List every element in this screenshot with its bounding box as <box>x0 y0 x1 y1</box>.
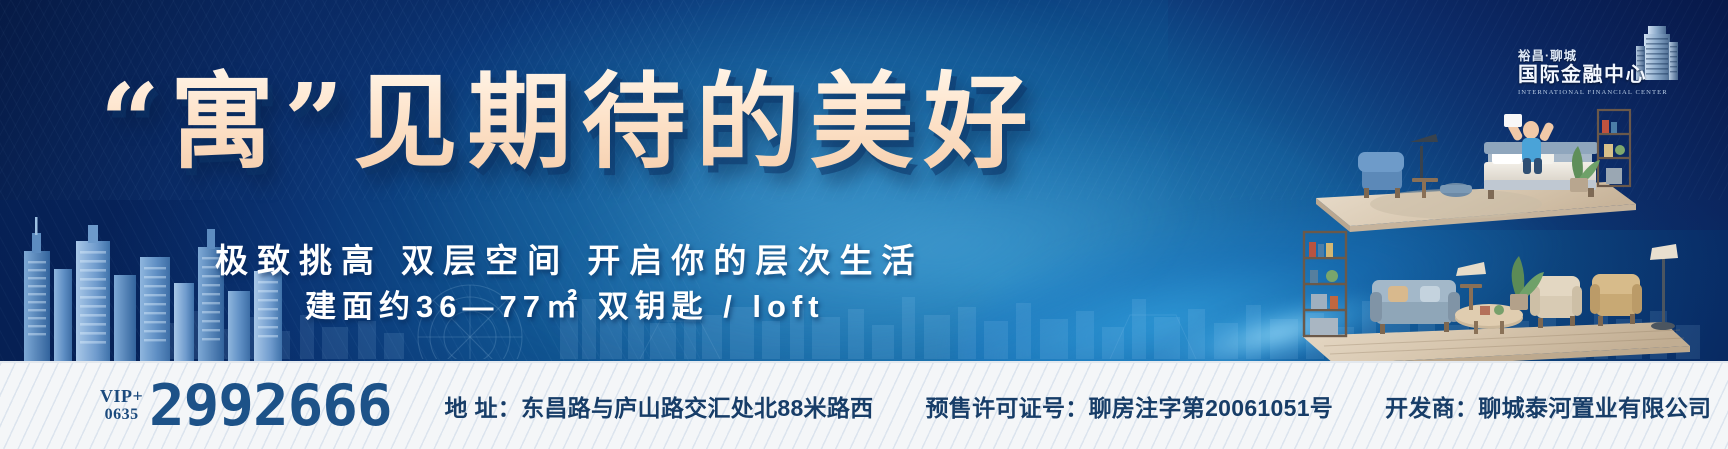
page-title: “寓”见期待的美好 <box>100 66 1038 178</box>
subtitle-line-2: 建面约36—77㎡ 双钥匙 / loft <box>305 281 825 326</box>
address-text: 地 址：东昌路与庐山路交汇处北88米路西 <box>418 389 899 423</box>
logo-line-3: INTERNATIONAL FINANCIAL CENTER <box>1518 89 1668 96</box>
living-room-interior-photo <box>1284 218 1694 373</box>
subtitle-line-1: 极致挑高 双层空间 开启你的层次生活 <box>215 234 923 282</box>
project-logo: 裕昌·聊城 国际金融中心 INTERNATIONAL FINANCIAL CEN… <box>1514 24 1710 96</box>
phone-number[interactable]: 2992666 <box>149 378 392 435</box>
developer-text: 开发商：聊城泰河置业有限公司 <box>1359 389 1728 423</box>
area-code: 0635 <box>105 406 139 424</box>
info-items: 地 址：东昌路与庐山路交汇处北88米路西 预售许可证号：聊房注字第2006105… <box>418 389 1728 423</box>
license-text: 预售许可证号：聊房注字第20061051号 <box>899 389 1359 423</box>
info-bar: VIP+ 0635 2992666 地 址：东昌路与庐山路交汇处北88米路西 预… <box>0 361 1728 449</box>
logo-line-1: 裕昌·聊城 <box>1518 49 1668 64</box>
vip-prefix: VIP+ <box>100 386 143 406</box>
vip-label: VIP+ 0635 <box>100 386 143 426</box>
phone-block: VIP+ 0635 2992666 <box>100 378 382 435</box>
advertisement-banner: 裕昌·聊城 国际金融中心 INTERNATIONAL FINANCIAL CEN… <box>0 0 1728 449</box>
logo-line-2: 国际金融中心 <box>1518 64 1668 87</box>
bedroom-interior-photo <box>1306 86 1636 236</box>
